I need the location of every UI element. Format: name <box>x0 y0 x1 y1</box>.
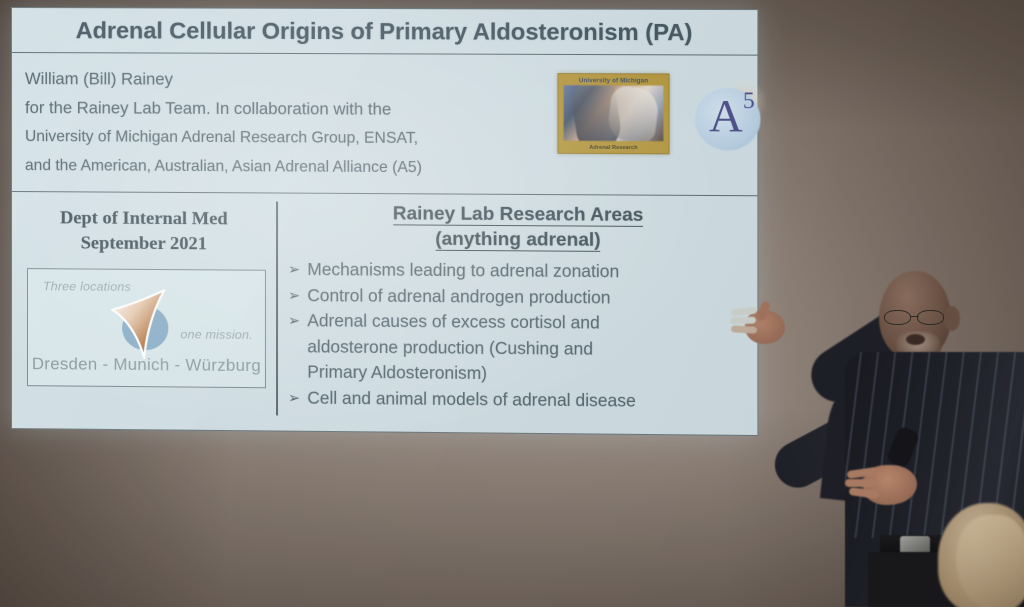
bullet-text: Control of adrenal androgen production <box>307 283 610 311</box>
um-logo-bottom-text: Adrenal Research <box>559 144 669 151</box>
um-logo-artwork <box>564 85 664 141</box>
bullet-text: Cell and animal models of adrenal diseas… <box>307 386 635 415</box>
bullet-continuation: Primary Aldosteronism) <box>288 360 749 390</box>
list-item: ➢ Control of adrenal androgen production <box>288 283 749 312</box>
list-item: ➢ Adrenal causes of excess cortisol and <box>288 308 749 337</box>
three-locations-one-mission-logo: Three locations <box>27 268 266 388</box>
research-bullet-list: ➢ Mechanisms leading to adrenal zonation… <box>288 257 749 415</box>
bullet-text: Adrenal causes of excess cortisol and <box>307 308 599 336</box>
university-of-michigan-adrenal-research-logo: University of Michigan Adrenal Research <box>557 73 669 154</box>
list-item: ➢ Mechanisms leading to adrenal zonation <box>288 257 749 286</box>
bullet-arrow-icon: ➢ <box>288 283 307 309</box>
logo-cities: Dresden - Munich - Würzburg <box>28 354 265 376</box>
bullet-text-continuation: aldosterone production (Cushing and <box>307 334 593 362</box>
lecture-room-photo: Adrenal Cellular Origins of Primary Aldo… <box>0 0 1024 607</box>
slide-title: Adrenal Cellular Origins of Primary Aldo… <box>76 17 693 46</box>
a5-letter: A <box>709 93 743 140</box>
logo-swoosh-icon <box>104 288 178 363</box>
slide-logos: University of Michigan Adrenal Research … <box>541 66 757 195</box>
author-line-2: for the Rainey Lab Team. In collaboratio… <box>25 93 541 124</box>
author-line-3: University of Michigan Adrenal Research … <box>25 122 541 154</box>
author-line-1: William (Bill) Rainey <box>25 64 541 95</box>
slide-author-band: William (Bill) Rainey for the Rainey Lab… <box>12 53 757 196</box>
bullet-arrow-icon: ➢ <box>288 308 307 334</box>
logo-tagline-right: one mission. <box>180 327 252 342</box>
research-heading-2: (anything adrenal) <box>288 225 749 253</box>
author-line-4: and the American, Australian, Asian Adre… <box>25 151 541 183</box>
bullet-continuation: aldosterone production (Cushing and <box>288 334 749 364</box>
bullet-text-continuation: Primary Aldosteronism) <box>307 360 487 387</box>
research-heading-line-1: Rainey Lab Research Areas <box>393 202 644 227</box>
research-heading: Rainey Lab Research Areas <box>288 200 749 228</box>
bullet-arrow-icon: ➢ <box>288 257 307 283</box>
a5-text: A 5 <box>692 77 772 156</box>
bullet-arrow-icon: ➢ <box>288 385 307 411</box>
slide-title-band: Adrenal Cellular Origins of Primary Aldo… <box>12 8 757 56</box>
projected-slide: Adrenal Cellular Origins of Primary Aldo… <box>11 7 758 436</box>
um-logo-top-text: University of Michigan <box>559 77 669 84</box>
slide-left-column: Dept of Internal Med September 2021 Thre… <box>12 192 276 427</box>
audience-member-hair <box>956 515 1024 607</box>
slide-right-column: Rainey Lab Research Areas (anything adre… <box>276 194 757 432</box>
dept-line-2: September 2021 <box>12 230 276 257</box>
slide-lower-section: Dept of Internal Med September 2021 Thre… <box>12 192 757 432</box>
a5-alliance-logo: A 5 <box>692 77 772 156</box>
research-heading-line-2: (anything adrenal) <box>435 228 600 252</box>
dept-line-1: Dept of Internal Med <box>12 205 276 232</box>
bullet-text: Mechanisms leading to adrenal zonation <box>307 257 619 285</box>
a5-superscript: 5 <box>743 89 755 112</box>
column-divider <box>276 202 278 416</box>
author-lines: William (Bill) Rainey for the Rainey Lab… <box>25 64 541 194</box>
list-item: ➢ Cell and animal models of adrenal dise… <box>288 385 749 415</box>
